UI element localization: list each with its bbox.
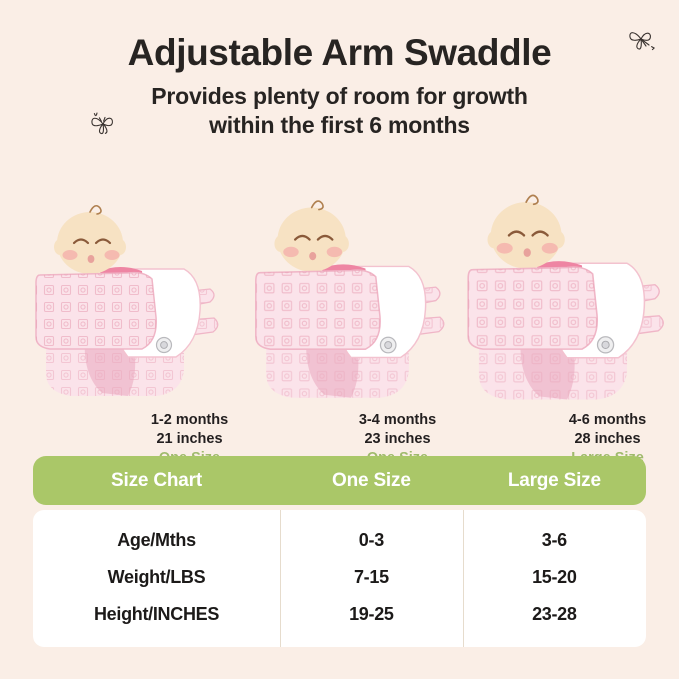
table-row: Age/Mths 0-3 3-6 [33, 522, 646, 559]
row-value-one-size: 19-25 [280, 604, 463, 625]
row-value-one-size: 7-15 [280, 567, 463, 588]
row-label: Height/INCHES [33, 604, 280, 625]
row-value-large-size: 3-6 [463, 530, 646, 551]
snap-button-icon [380, 337, 396, 353]
header-cell-size-chart: Size Chart [33, 470, 280, 492]
label-age: 3-4 months [320, 411, 475, 430]
subtitle-line-2: within the first 6 months [0, 111, 679, 140]
row-value-large-size: 23-28 [463, 604, 646, 625]
label-age: 4-6 months [530, 411, 679, 430]
swaddle-illustration [243, 192, 461, 409]
header: Adjustable Arm Swaddle Provides plenty o… [0, 0, 679, 141]
page-subtitle: Provides plenty of room for growth withi… [0, 82, 679, 141]
table-row: Height/INCHES 19-25 23-28 [33, 596, 646, 633]
product-swaddle-large [455, 186, 679, 411]
label-length: 23 inches [320, 430, 475, 449]
subtitle-line-1: Provides plenty of room for growth [0, 82, 679, 111]
row-label: Age/Mths [33, 530, 280, 551]
product-swaddle-small [24, 197, 234, 407]
label-length: 21 inches [112, 430, 267, 449]
swaddle-illustration [455, 186, 679, 411]
header-cell-large-size: Large Size [463, 470, 646, 492]
page-title: Adjustable Arm Swaddle [0, 34, 679, 73]
size-chart-body: Age/Mths 0-3 3-6 Weight/LBS 7-15 15-20 H… [33, 510, 646, 647]
header-cell-one-size: One Size [280, 470, 463, 492]
swaddle-illustration [24, 197, 234, 407]
label-length: 28 inches [530, 430, 679, 449]
row-value-large-size: 15-20 [463, 567, 646, 588]
snap-button-icon [157, 337, 172, 352]
product-swaddle-medium [243, 192, 461, 409]
label-age: 1-2 months [112, 411, 267, 430]
size-chart-table: Size Chart One Size Large Size Age/Mths … [33, 456, 646, 647]
size-chart-header-row: Size Chart One Size Large Size [33, 456, 646, 505]
row-value-one-size: 0-3 [280, 530, 463, 551]
row-label: Weight/LBS [33, 567, 280, 588]
table-row: Weight/LBS 7-15 15-20 [33, 559, 646, 596]
product-illustration-row [0, 153, 679, 413]
snap-button-icon [598, 336, 614, 352]
